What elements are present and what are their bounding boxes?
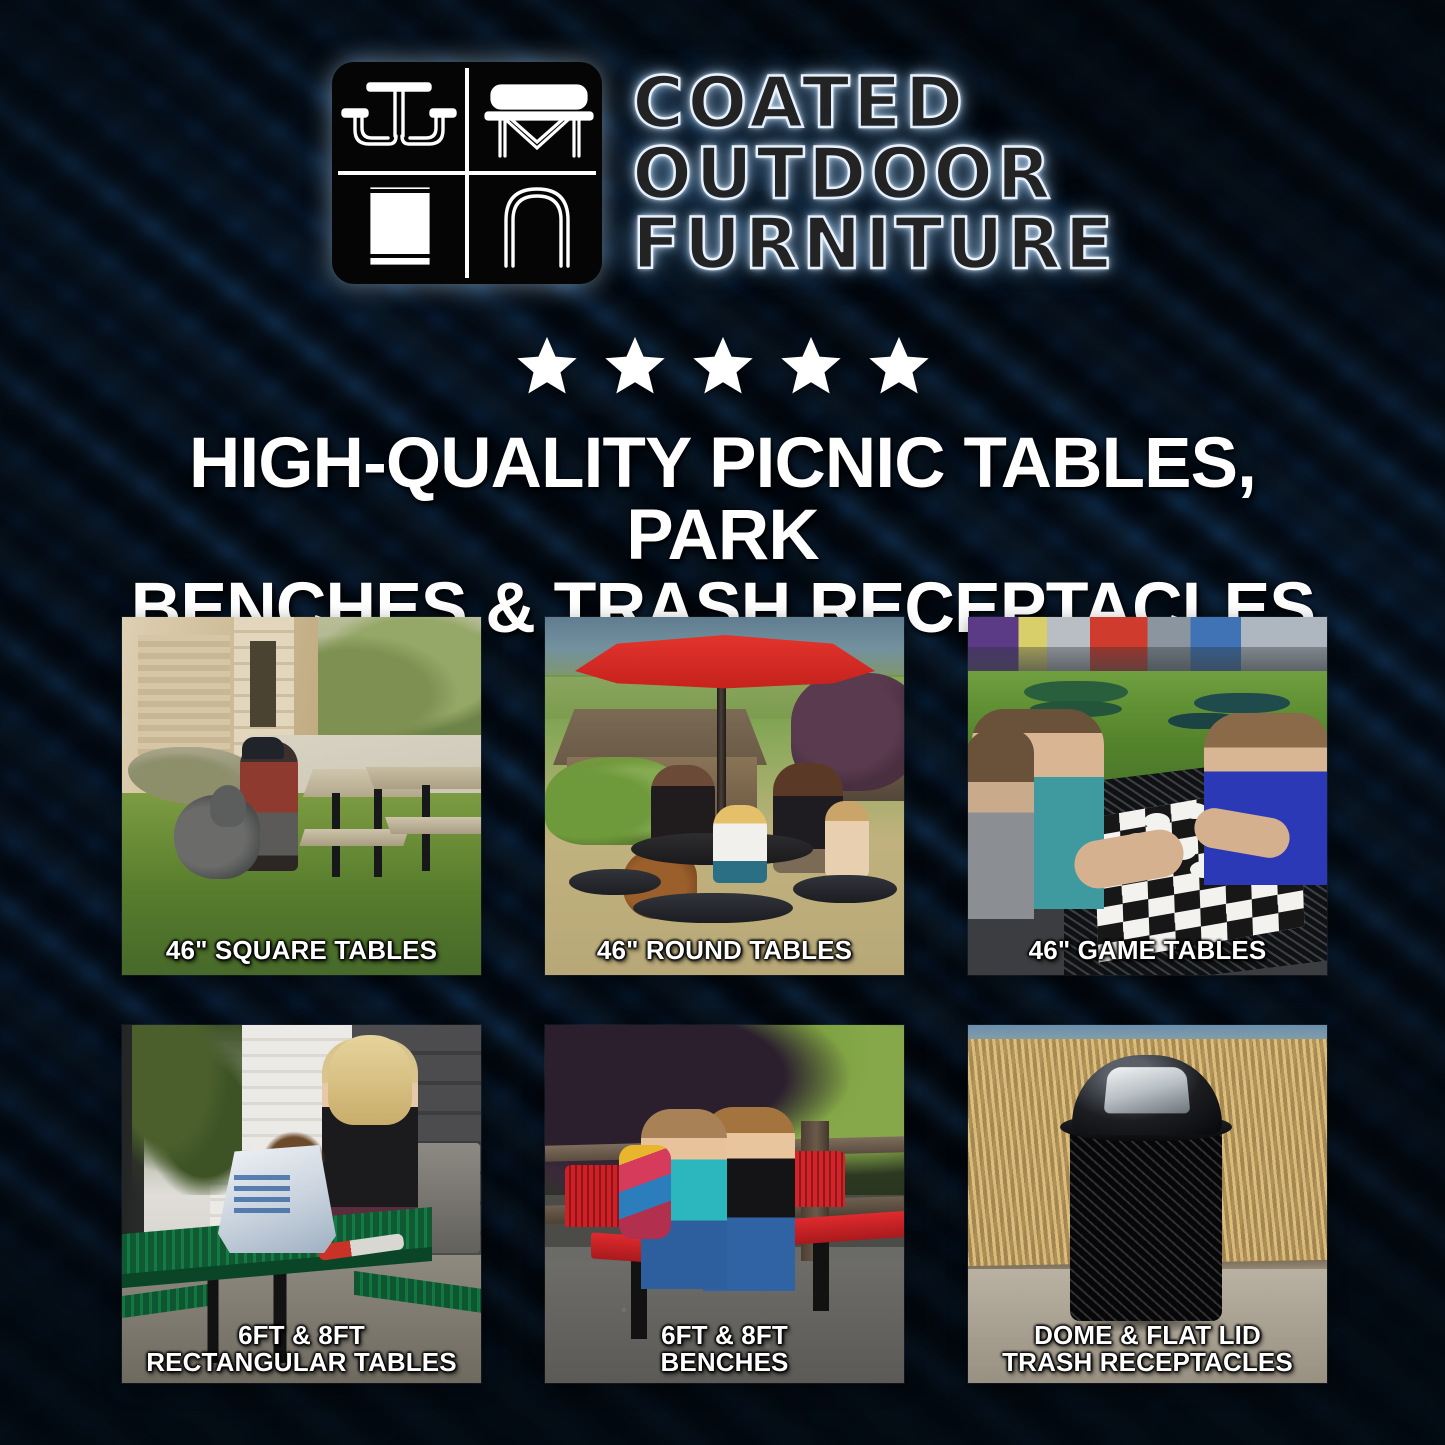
- product-photo-square-tables: [122, 617, 481, 975]
- product-grid: 46" SQUARE TABLES 46" ROUND TABLES: [122, 617, 1327, 1383]
- four-quadrant-furniture-icon: [328, 58, 606, 288]
- brand-logo: COATED OUTDOOR FURNITURE: [0, 58, 1445, 288]
- headline-line1: HIGH-QUALITY PICNIC TABLES, PARK: [98, 428, 1348, 573]
- product-card-square-tables[interactable]: 46" SQUARE TABLES: [122, 617, 481, 975]
- star-icon: [602, 333, 668, 399]
- brand-name-line1: COATED: [632, 71, 1116, 135]
- product-caption-line1: 46" SQUARE TABLES: [166, 935, 437, 965]
- product-card-round-tables[interactable]: 46" ROUND TABLES: [545, 617, 904, 975]
- product-caption: 46" GAME TABLES: [968, 937, 1327, 965]
- product-caption: 6FT & 8FT RECTANGULAR TABLES: [122, 1322, 481, 1377]
- page-title: HIGH-QUALITY PICNIC TABLES, PARK BENCHES…: [98, 428, 1348, 645]
- product-card-benches[interactable]: 6FT & 8FT BENCHES: [545, 1025, 904, 1383]
- product-photo-round-tables: [545, 617, 904, 975]
- product-caption: 6FT & 8FT BENCHES: [545, 1322, 904, 1377]
- product-caption: DOME & FLAT LID TRASH RECEPTACLES: [968, 1322, 1327, 1377]
- brand-name-line3: FURNITURE: [632, 212, 1116, 276]
- star-icon: [690, 333, 756, 399]
- star-icon: [866, 333, 932, 399]
- product-caption-line2: RECTANGULAR TABLES: [122, 1349, 481, 1377]
- product-caption-line1: 46" ROUND TABLES: [597, 935, 852, 965]
- brand-name-line2: OUTDOOR: [632, 142, 1116, 206]
- product-caption-line1: DOME & FLAT LID: [1034, 1320, 1261, 1350]
- product-card-trash-receptacles[interactable]: DOME & FLAT LID TRASH RECEPTACLES: [968, 1025, 1327, 1383]
- star-rating: [0, 333, 1445, 399]
- product-caption-line1: 6FT & 8FT: [238, 1320, 365, 1350]
- product-caption-line2: TRASH RECEPTACLES: [968, 1349, 1327, 1377]
- product-caption-line1: 6FT & 8FT: [661, 1320, 788, 1350]
- product-caption: 46" SQUARE TABLES: [122, 937, 481, 965]
- product-photo-game-tables: [968, 617, 1327, 975]
- product-caption-line2: BENCHES: [545, 1349, 904, 1377]
- product-card-game-tables[interactable]: 46" GAME TABLES: [968, 617, 1327, 975]
- product-card-rectangular-tables[interactable]: 6FT & 8FT RECTANGULAR TABLES: [122, 1025, 481, 1383]
- product-caption-line1: 46" GAME TABLES: [1029, 935, 1267, 965]
- star-icon: [514, 333, 580, 399]
- star-icon: [778, 333, 844, 399]
- product-caption: 46" ROUND TABLES: [545, 937, 904, 965]
- brand-name: COATED OUTDOOR FURNITURE: [632, 69, 1116, 276]
- promotional-poster: COATED OUTDOOR FURNITURE HIGH-QUALITY PI…: [0, 0, 1445, 1445]
